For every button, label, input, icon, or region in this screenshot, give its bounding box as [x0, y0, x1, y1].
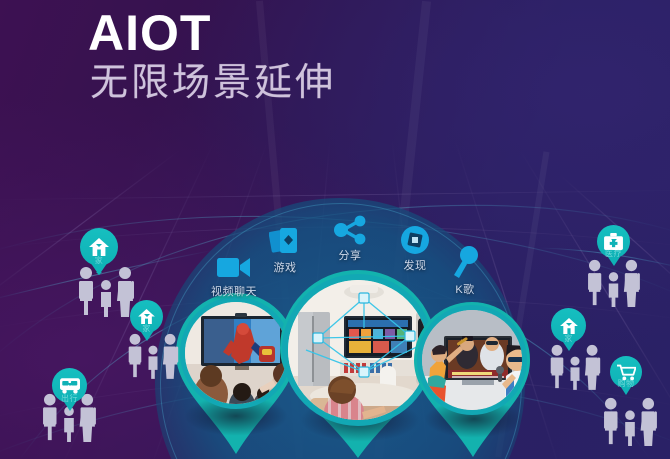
headline: AIOT 无限场景延伸 [88, 6, 336, 106]
page-title: AIOT [88, 6, 336, 60]
map-pin-home-2[interactable]: 家 [130, 300, 163, 333]
map-pin-label-travel: 出行 [52, 393, 87, 404]
family-group-right-bottom [601, 396, 659, 446]
map-pin-shopping[interactable]: 购物 [610, 356, 642, 388]
playing-cards-icon [269, 225, 301, 257]
compass-diamond-icon [400, 225, 430, 255]
map-pin-label-home-2: 家 [130, 323, 163, 334]
app-label-ktv: K歌 [428, 281, 502, 297]
home-icon [89, 238, 109, 256]
map-pin-medical[interactable]: 医疗 [597, 225, 630, 258]
home-icon [138, 309, 155, 324]
map-pin-home-3[interactable]: 家 [551, 308, 586, 343]
app-icon-share[interactable]: 分享 [313, 215, 387, 263]
map-pin-label-home-3: 家 [551, 333, 586, 344]
map-pin-home-1[interactable]: 家 [80, 228, 118, 266]
map-pin-label-shopping: 购物 [610, 378, 642, 389]
map-pin-label-home-1: 家 [80, 255, 118, 266]
microphone-icon [450, 245, 480, 279]
bus-icon [60, 378, 80, 394]
family-group-left-top [76, 265, 136, 317]
home-icon [560, 318, 578, 334]
page-subtitle: 无限场景延伸 [90, 62, 336, 106]
app-label-game: 游戏 [248, 259, 322, 275]
map-pin-label-medical: 医疗 [597, 248, 630, 259]
app-label-video-chat: 视频聊天 [197, 283, 271, 299]
app-label-share: 分享 [313, 247, 387, 263]
app-icon-ktv[interactable]: K歌 [428, 245, 502, 297]
photo-karaoke[interactable] [417, 305, 527, 415]
share-nodes-icon [333, 215, 367, 245]
aiot-hero-banner: AIOT 无限场景延伸 [0, 0, 670, 459]
app-icon-game[interactable]: 游戏 [248, 225, 322, 275]
map-pin-travel[interactable]: 出行 [52, 368, 87, 403]
video-camera-icon [217, 255, 251, 281]
